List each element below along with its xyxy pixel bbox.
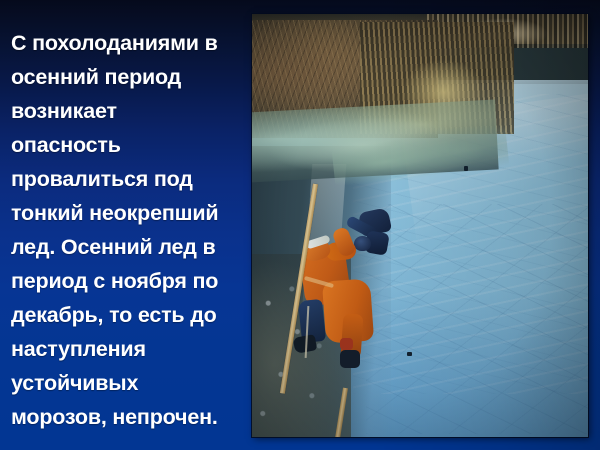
caption-line: опасность bbox=[11, 128, 247, 162]
rescuer-right-boot bbox=[340, 350, 360, 368]
caption-line: провалиться под bbox=[11, 162, 247, 196]
ice-debris-dot bbox=[464, 166, 468, 171]
caption-line: осенний период bbox=[11, 60, 247, 94]
victim-head bbox=[354, 236, 371, 251]
slide-canvas: С похолоданиями в осенний период возника… bbox=[0, 0, 600, 450]
caption-line: декабрь, то есть до bbox=[11, 298, 247, 332]
caption-line: период с ноября по bbox=[11, 264, 247, 298]
caption-line: наступления bbox=[11, 332, 247, 366]
caption-text-block: С похолоданиями в осенний период возника… bbox=[11, 26, 247, 434]
caption-line: морозов, непрочен. bbox=[11, 400, 247, 434]
caption-line: тонкий неокрепший bbox=[11, 196, 247, 230]
rescuer-glove bbox=[340, 338, 353, 350]
caption-line: возникает bbox=[11, 94, 247, 128]
caption-line: С похолоданиями в bbox=[11, 26, 247, 60]
ice-rescue-photo bbox=[252, 14, 588, 437]
caption-line: лед. Осенний лед в bbox=[11, 230, 247, 264]
caption-line: устойчивых bbox=[11, 366, 247, 400]
rescue-figure-group bbox=[280, 188, 410, 388]
